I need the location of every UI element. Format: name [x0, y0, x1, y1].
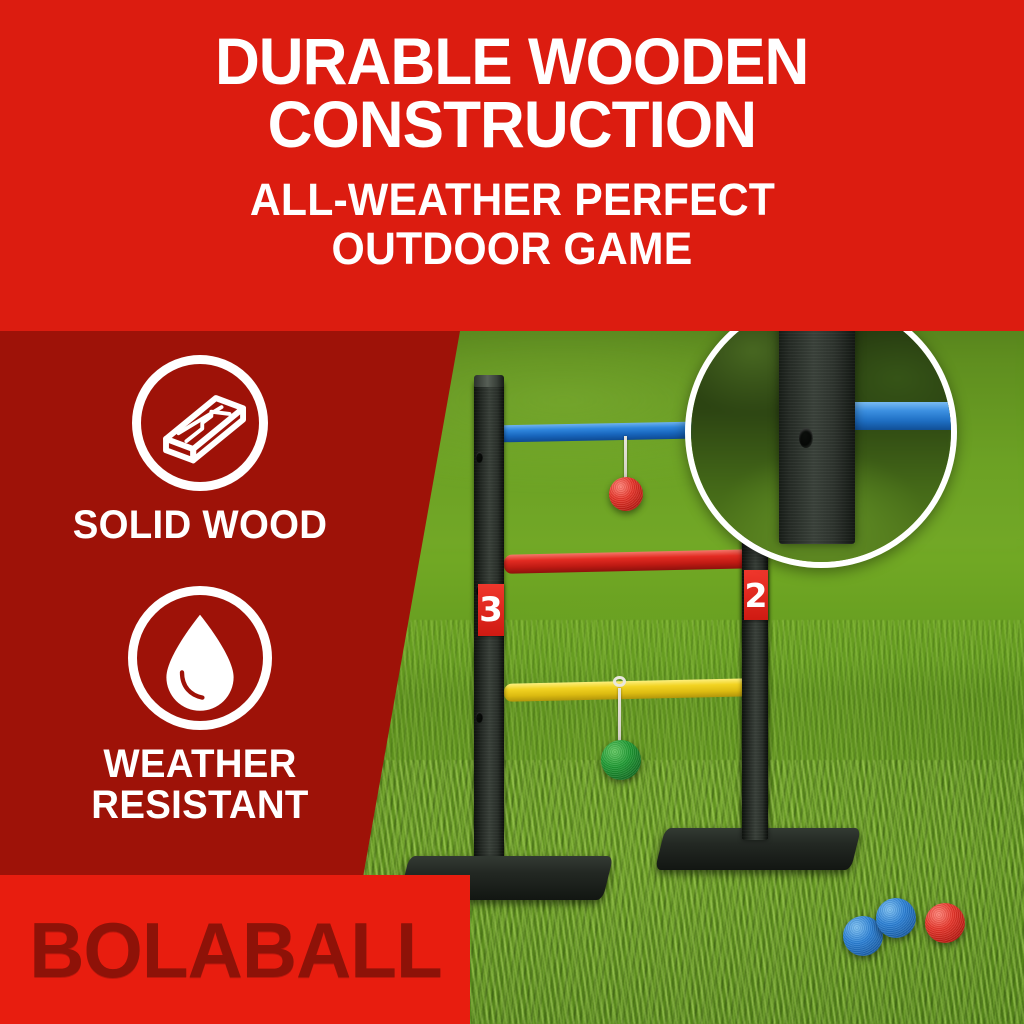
feature-label-weather-line-1: WEATHER — [8, 744, 392, 785]
headline-line-2: CONSTRUCTION — [268, 93, 756, 156]
bola-ball-red — [609, 477, 643, 511]
inset-blue-rung — [841, 402, 957, 430]
headline-line-1: DURABLE WOODEN — [215, 30, 808, 93]
feature-solid-wood: SOLID WOOD — [0, 355, 400, 546]
brand-name: BOLABALL — [29, 911, 442, 989]
ladder-post-cap-left — [474, 375, 504, 387]
feature-weather-resistant: WEATHER RESISTANT — [0, 586, 400, 826]
bola-knot-green — [613, 676, 626, 687]
feature-label-solid-wood: SOLID WOOD — [8, 505, 392, 546]
subheadline-line-2: OUTDOOR GAME — [332, 226, 693, 273]
bola-string-green — [618, 688, 621, 746]
inset-screw-hole — [799, 428, 813, 448]
loose-ball-red — [925, 903, 965, 943]
score-label-3: 3 — [478, 584, 504, 636]
subheadline-line-1: ALL-WEATHER PERFECT — [249, 177, 774, 224]
brand-banner: BOLABALL — [0, 875, 470, 1024]
water-drop-icon — [128, 586, 272, 730]
post-screw-hole-upper — [476, 452, 483, 463]
inset-post — [779, 296, 855, 544]
product-infographic: 3 2 DURABLE WOODEN CONSTRUCTION ALL-WEAT… — [0, 0, 1024, 1024]
feature-label-weather-line-2: RESISTANT — [8, 785, 392, 826]
magnified-detail-inset — [685, 296, 957, 568]
post-screw-hole-lower — [476, 712, 483, 723]
loose-ball-blue-2 — [876, 898, 916, 938]
score-label-2: 2 — [744, 570, 768, 620]
rung-yellow — [504, 678, 756, 702]
bola-ball-green — [601, 740, 641, 780]
header-banner: DURABLE WOODEN CONSTRUCTION ALL-WEATHER … — [0, 0, 1024, 331]
wood-plank-icon — [132, 355, 268, 491]
